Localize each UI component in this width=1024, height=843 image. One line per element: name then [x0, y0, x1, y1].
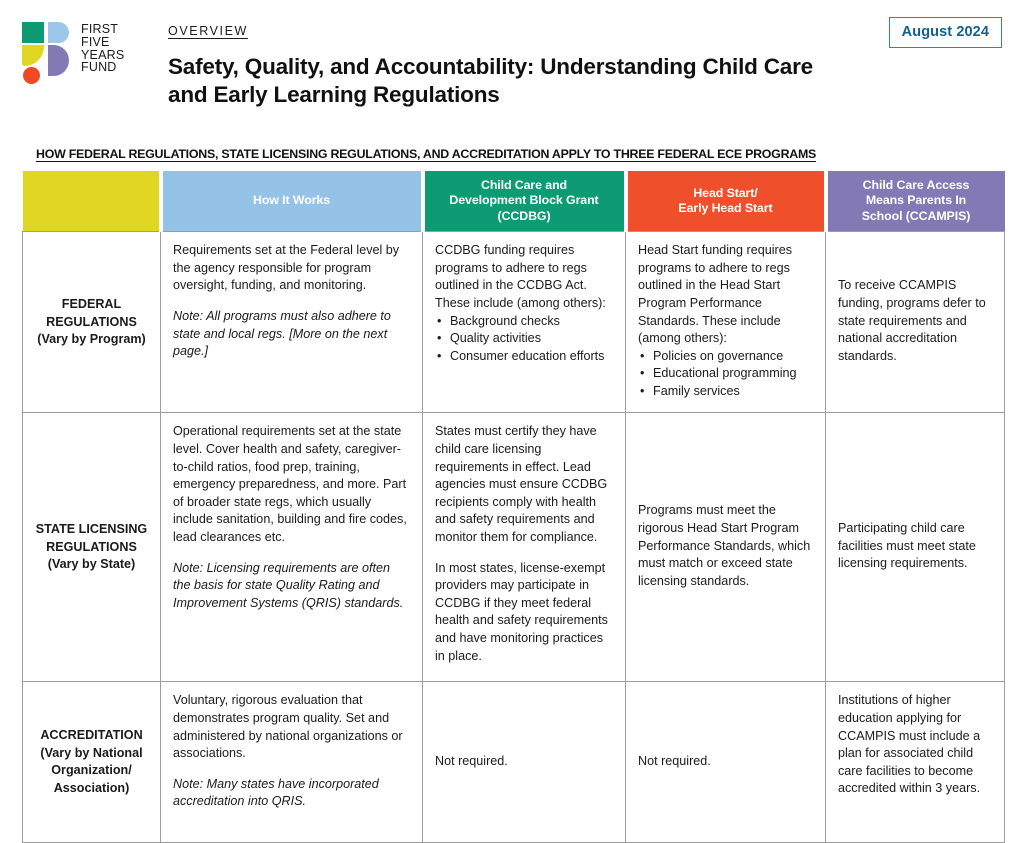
brand-word-4: FUND: [81, 61, 124, 74]
logo-yellow-wedge-icon: [22, 45, 44, 66]
cell-accreditation-how-paragraph: Voluntary, rigorous evaluation that demo…: [173, 692, 410, 762]
brand-word-2: FIVE: [81, 36, 124, 49]
row-label-state-licensing-regulations: STATE LICENSING REGULATIONS (Vary by Sta…: [23, 413, 161, 682]
cell-state-head-start-paragraph: Programs must meet the rigorous Head Sta…: [638, 502, 813, 590]
brand-word-1: FIRST: [81, 23, 124, 36]
cell-federal-head-start-bullets: Policies on governance Educational progr…: [638, 348, 813, 401]
page-header: FIRST FIVE YEARS FUND OVERVIEW Safety, Q…: [0, 0, 1024, 124]
ccdbg-header-line-3: (CCDBG): [425, 209, 624, 225]
cell-federal-ccdbg-paragraph: CCDBG funding requires programs to adher…: [435, 242, 613, 312]
brand-logo: FIRST FIVE YEARS FUND: [22, 14, 152, 76]
table-row: ACCREDITATION (Vary by National Organiza…: [23, 682, 1005, 843]
first-five-years-fund-logo-icon: [22, 22, 74, 76]
column-header-ccampis: Child Care Access Means Parents In Schoo…: [826, 171, 1005, 232]
cell-accreditation-ccampis-paragraph: Institutions of higher education applyin…: [838, 692, 992, 798]
cell-federal-ccampis-paragraph: To receive CCAMPIS funding, programs def…: [838, 277, 992, 365]
page-title-line-1: Safety, Quality, and Accountability: Und…: [168, 54, 813, 79]
ccdbg-header-line-1: Child Care and: [425, 178, 624, 194]
cell-federal-how-it-works: Requirements set at the Federal level by…: [161, 232, 423, 413]
ccampis-header-line-3: School (CCAMPIS): [828, 209, 1005, 225]
row-label-federal-line-2: REGULATIONS: [29, 314, 154, 332]
list-item: Consumer education efforts: [450, 348, 613, 366]
cell-state-ccdbg-paragraph-1: States must certify they have child care…: [435, 423, 613, 546]
brand-wordmark: FIRST FIVE YEARS FUND: [81, 22, 124, 74]
row-label-accreditation-main: ACCREDITATION: [29, 727, 154, 745]
column-header-blank: [23, 171, 161, 232]
page-title-line-2: and Early Learning Regulations: [168, 81, 1002, 109]
head-start-header-line-2: Early Head Start: [628, 201, 824, 217]
logo-orange-dot-icon: [23, 67, 40, 84]
cell-federal-how-paragraph: Requirements set at the Federal level by…: [173, 242, 410, 295]
cell-state-ccdbg-paragraph-2: In most states, license-exempt providers…: [435, 560, 613, 666]
list-item: Quality activities: [450, 330, 613, 348]
column-header-head-start: Head Start/ Early Head Start: [626, 171, 826, 232]
ccampis-header-line-1: Child Care Access: [828, 178, 1005, 194]
cell-accreditation-how-it-works: Voluntary, rigorous evaluation that demo…: [161, 682, 423, 843]
cell-federal-ccdbg-bullets: Background checks Quality activities Con…: [435, 313, 613, 366]
cell-federal-ccampis: To receive CCAMPIS funding, programs def…: [826, 232, 1005, 413]
cell-accreditation-head-start: Not required.: [626, 682, 826, 843]
row-label-federal-line-1: FEDERAL: [29, 296, 154, 314]
logo-purple-arc-icon: [48, 45, 69, 76]
column-header-how-it-works: How It Works: [161, 171, 423, 232]
list-item: Family services: [653, 383, 813, 401]
row-label-state-line-2: REGULATIONS: [29, 539, 154, 557]
column-header-ccdbg: Child Care and Development Block Grant (…: [423, 171, 626, 232]
cell-accreditation-ccampis: Institutions of higher education applyin…: [826, 682, 1005, 843]
cell-accreditation-ccdbg: Not required.: [423, 682, 626, 843]
row-label-federal-sub: (Vary by Program): [29, 331, 154, 349]
regulations-matrix: How It Works Child Care and Development …: [0, 171, 1024, 843]
table-header-row: How It Works Child Care and Development …: [23, 171, 1005, 232]
row-label-state-sub: (Vary by State): [29, 556, 154, 574]
eyebrow-label: OVERVIEW: [168, 24, 1002, 38]
cell-federal-how-note: Note: All programs must also adhere to s…: [173, 308, 410, 361]
cell-state-how-note: Note: Licensing requirements are often t…: [173, 560, 410, 613]
title-block: OVERVIEW Safety, Quality, and Accountabi…: [152, 14, 1002, 124]
table-row: FEDERAL REGULATIONS (Vary by Program) Re…: [23, 232, 1005, 413]
list-item: Background checks: [450, 313, 613, 331]
row-label-accreditation: ACCREDITATION (Vary by National Organiza…: [23, 682, 161, 843]
row-label-federal-regulations: FEDERAL REGULATIONS (Vary by Program): [23, 232, 161, 413]
logo-green-square-icon: [22, 22, 44, 43]
cell-accreditation-how-note: Note: Many states have incorporated accr…: [173, 776, 410, 811]
cell-federal-head-start-paragraph: Head Start funding requires programs to …: [638, 242, 813, 348]
cell-accreditation-ccdbg-paragraph: Not required.: [435, 753, 613, 771]
cell-state-how-paragraph: Operational requirements set at the stat…: [173, 423, 410, 546]
cell-state-ccdbg: States must certify they have child care…: [423, 413, 626, 682]
date-badge: August 2024: [889, 17, 1002, 48]
list-item: Policies on governance: [653, 348, 813, 366]
ccdbg-header-line-2: Development Block Grant: [425, 193, 624, 209]
head-start-header-line-1: Head Start/: [628, 186, 824, 202]
cell-state-how-it-works: Operational requirements set at the stat…: [161, 413, 423, 682]
section-subheading: HOW FEDERAL REGULATIONS, STATE LICENSING…: [0, 147, 1024, 161]
table-row: STATE LICENSING REGULATIONS (Vary by Sta…: [23, 413, 1005, 682]
cell-accreditation-head-start-paragraph: Not required.: [638, 753, 813, 771]
row-label-accreditation-sub-1: (Vary by National: [29, 745, 154, 763]
list-item: Educational programming: [653, 365, 813, 383]
cell-state-head-start: Programs must meet the rigorous Head Sta…: [626, 413, 826, 682]
row-label-accreditation-sub-3: Association): [29, 780, 154, 798]
cell-federal-head-start: Head Start funding requires programs to …: [626, 232, 826, 413]
regulations-table: How It Works Child Care and Development …: [22, 171, 1005, 843]
cell-state-ccampis: Participating child care facilities must…: [826, 413, 1005, 682]
ccampis-header-line-2: Means Parents In: [828, 193, 1005, 209]
row-label-state-line-1: STATE LICENSING: [29, 521, 154, 539]
cell-federal-ccdbg: CCDBG funding requires programs to adher…: [423, 232, 626, 413]
page-title: Safety, Quality, and Accountability: Und…: [168, 53, 1002, 109]
row-label-accreditation-sub-2: Organization/: [29, 762, 154, 780]
cell-state-ccampis-paragraph: Participating child care facilities must…: [838, 520, 992, 573]
logo-blue-arc-icon: [48, 22, 69, 43]
